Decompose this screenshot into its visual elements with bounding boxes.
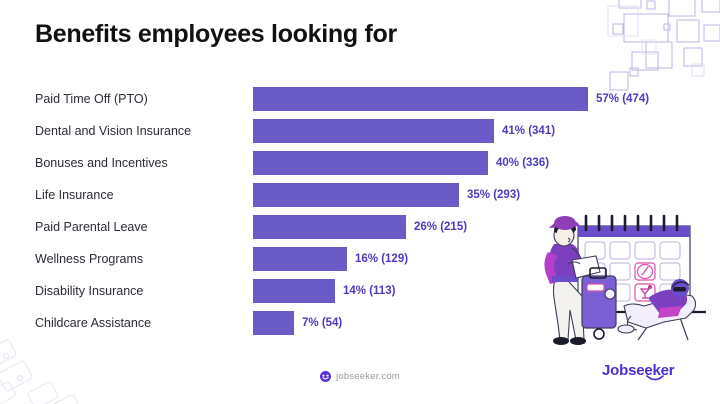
category-label: Life Insurance <box>35 189 247 202</box>
slide-canvas: Benefits employees looking for Paid Time… <box>0 0 720 404</box>
category-label: Paid Parental Leave <box>35 221 247 234</box>
bar[interactable] <box>253 151 488 175</box>
chart-row: Disability Insurance 14% (113) <box>0 276 720 306</box>
bar[interactable] <box>253 247 347 271</box>
bar-track: 41% (341) <box>253 119 673 143</box>
bar-value-label: 7% (54) <box>302 317 342 329</box>
bar-value-label: 16% (129) <box>355 253 408 265</box>
category-label: Childcare Assistance <box>35 317 247 330</box>
brand-logo: Jobseeker <box>602 362 698 388</box>
category-label: Wellness Programs <box>35 253 247 266</box>
bar-value-label: 26% (215) <box>414 221 467 233</box>
page-title: Benefits employees looking for <box>35 20 397 49</box>
bar-track: 16% (129) <box>253 247 673 271</box>
chart-row: Paid Time Off (PTO) 57% (474) <box>0 84 720 114</box>
bar[interactable] <box>253 87 588 111</box>
bar-track: 14% (113) <box>253 279 673 303</box>
category-label: Paid Time Off (PTO) <box>35 93 247 106</box>
category-label: Disability Insurance <box>35 285 247 298</box>
chart-row: Paid Parental Leave 26% (215) <box>0 212 720 242</box>
category-label: Bonuses and Incentives <box>35 157 247 170</box>
bar-track: 35% (293) <box>253 183 673 207</box>
chart-row: Wellness Programs 16% (129) <box>0 244 720 274</box>
bar[interactable] <box>253 119 494 143</box>
chart-row: Life Insurance 35% (293) <box>0 180 720 210</box>
bar-value-label: 57% (474) <box>596 93 649 105</box>
bar-track: 40% (336) <box>253 151 673 175</box>
bar-value-label: 14% (113) <box>343 285 395 297</box>
smiley-face-icon <box>320 371 331 382</box>
bar-value-label: 35% (293) <box>467 189 520 201</box>
brand-smile-icon <box>646 375 664 382</box>
bar[interactable] <box>253 279 335 303</box>
decorative-squares-pattern-icon <box>602 0 720 92</box>
chart-row: Childcare Assistance 7% (54) <box>0 308 720 338</box>
bar[interactable] <box>253 215 406 239</box>
bar-value-label: 40% (336) <box>496 157 549 169</box>
bar-value-label: 41% (341) <box>502 125 555 137</box>
bar-track: 57% (474) <box>253 87 673 111</box>
bar[interactable] <box>253 183 459 207</box>
benefits-bar-chart: Paid Time Off (PTO) 57% (474) Dental and… <box>0 84 720 344</box>
bar[interactable] <box>253 311 294 335</box>
category-label: Dental and Vision Insurance <box>35 125 247 138</box>
bar-track: 26% (215) <box>253 215 673 239</box>
chart-row: Bonuses and Incentives 40% (336) <box>0 148 720 178</box>
bar-track: 7% (54) <box>253 311 673 335</box>
footer-credit-text: jobseeker.com <box>336 371 400 382</box>
chart-row: Dental and Vision Insurance 41% (341) <box>0 116 720 146</box>
